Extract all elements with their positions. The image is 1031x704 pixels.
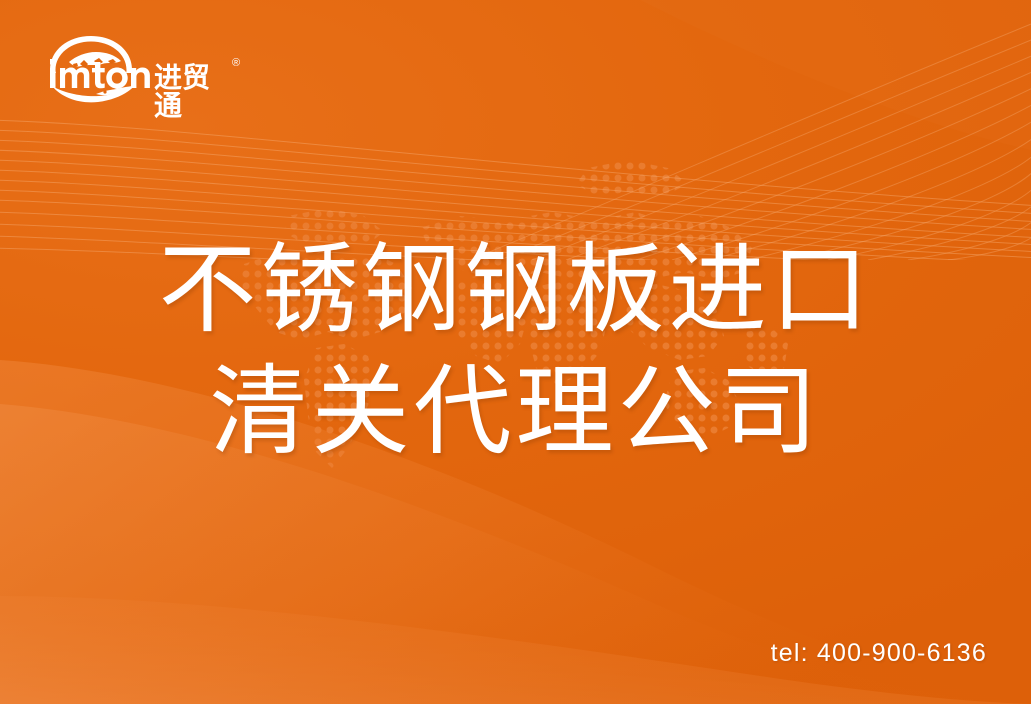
contact-phone[interactable]: tel: 400-900-6136 bbox=[771, 639, 987, 668]
trademark-symbol: ® bbox=[232, 58, 240, 69]
logo-wordmark bbox=[50, 59, 150, 89]
page-title: 不锈钢钢板进口 清关代理公司 bbox=[0, 228, 1031, 472]
headline-line-1: 不锈钢钢板进口 bbox=[0, 228, 1031, 350]
poster-banner: 进贸通 ® 不锈钢钢板进口 清关代理公司 tel: 400-900-6136 bbox=[0, 0, 1031, 704]
headline-line-2: 清关代理公司 bbox=[0, 350, 1031, 472]
logo-chinese-name: 进贸通 bbox=[154, 64, 216, 120]
globe-arc-icon bbox=[50, 36, 132, 73]
brand-logo[interactable]: 进贸通 ® bbox=[36, 28, 216, 104]
